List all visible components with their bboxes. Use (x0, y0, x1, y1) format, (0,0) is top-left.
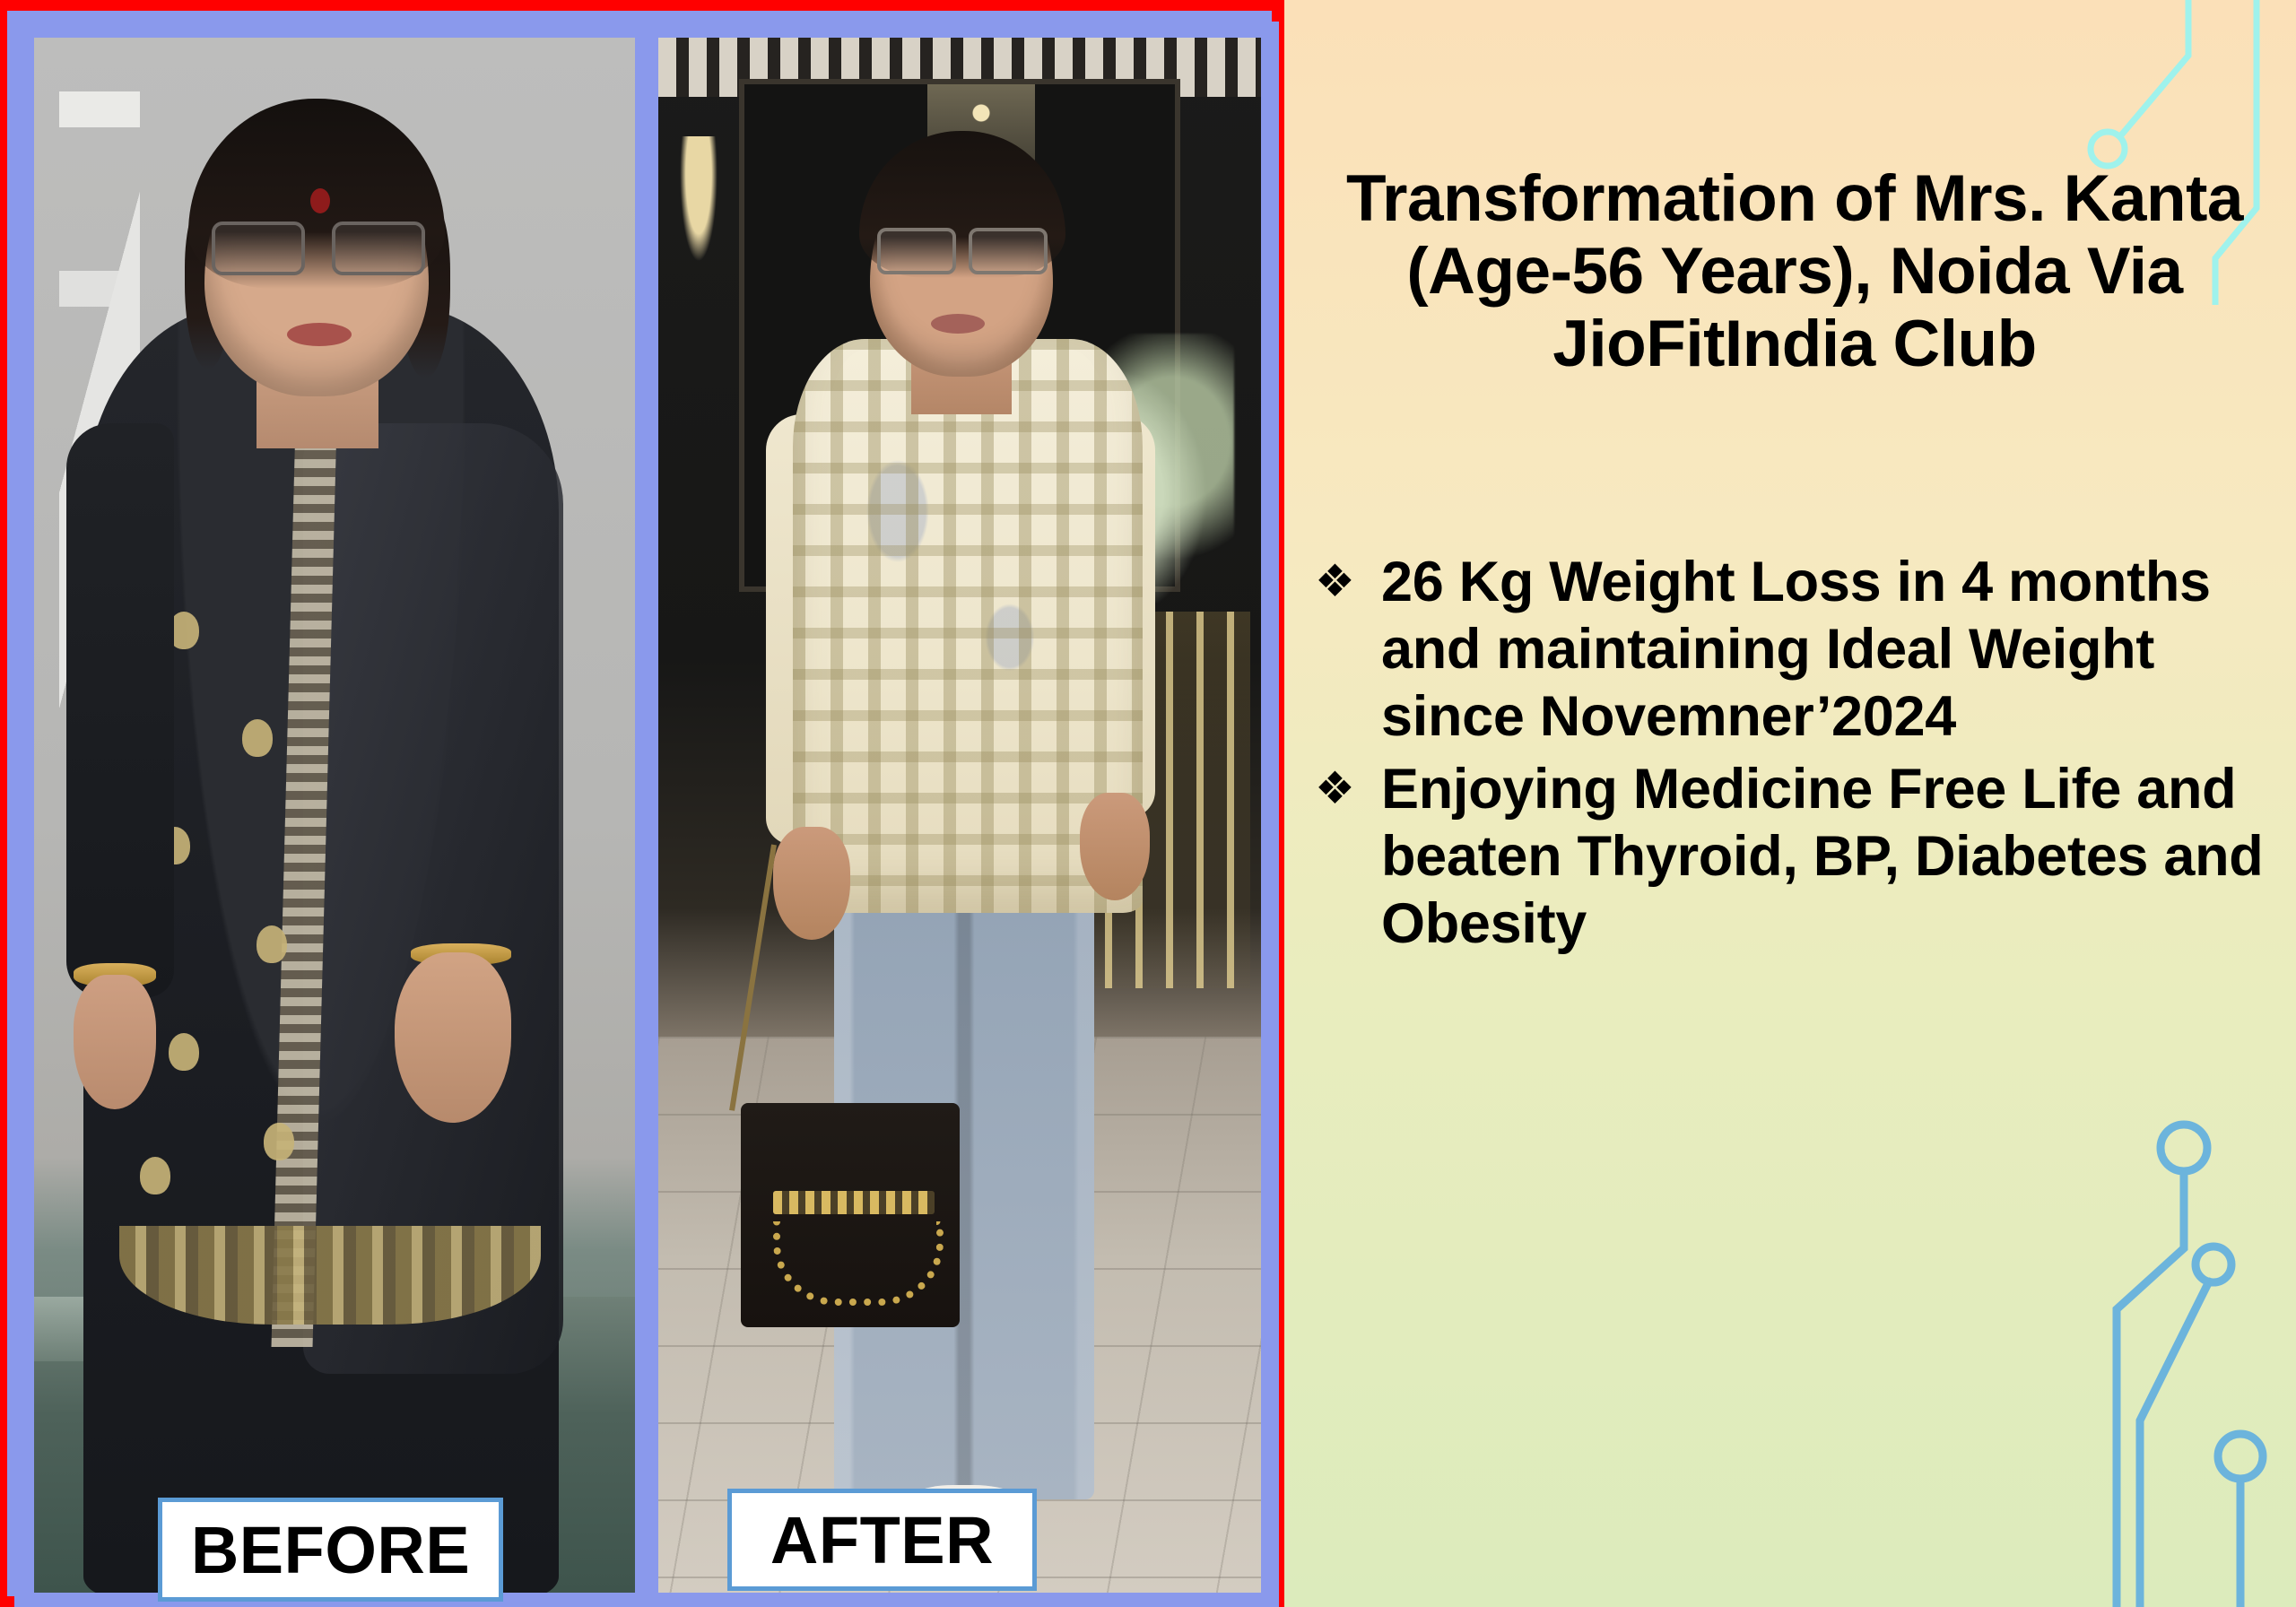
before-kurta-motif (257, 925, 287, 963)
handbag-logo (773, 1191, 935, 1214)
before-after-photo-panel: BEFORE AFTER (0, 0, 1284, 1607)
before-right-hand (395, 952, 511, 1123)
before-kurta-motif (264, 1123, 294, 1160)
before-kurta-hem-band (119, 1226, 541, 1325)
list-item: ❖ 26 Kg Weight Loss in 4 months and main… (1315, 549, 2283, 751)
glasses-icon (212, 222, 425, 272)
bindi-icon (310, 188, 330, 213)
glasses-icon (877, 228, 1048, 271)
before-left-arm (66, 423, 174, 997)
photo-mat: BEFORE AFTER (14, 22, 1279, 1607)
before-label: BEFORE (158, 1498, 503, 1602)
circuit-decoration-bottom-icon (2081, 1105, 2296, 1607)
before-lips (287, 323, 352, 346)
list-item-label: 26 Kg Weight Loss in 4 months and mainta… (1381, 549, 2283, 751)
list-item: ❖ Enjoying Medicine Free Life and beaten… (1315, 756, 2283, 958)
before-kurta-motif (242, 719, 273, 757)
before-photo (34, 38, 635, 1593)
after-photo (658, 38, 1261, 1593)
content-column: Transformation of Mrs. Kanta (Age-56 Yea… (1291, 0, 2296, 1607)
before-kurta-motif (140, 1157, 170, 1194)
before-kurta-motif (169, 1033, 199, 1071)
after-right-hand (1080, 793, 1150, 900)
list-item-label: Enjoying Medicine Free Life and beaten T… (1381, 756, 2283, 958)
handbag-chain (773, 1221, 944, 1306)
after-lips (931, 314, 985, 334)
before-left-hand (74, 975, 156, 1109)
diamond-bullet-icon: ❖ (1315, 549, 1381, 609)
after-label: AFTER (727, 1489, 1037, 1591)
page-title: Transformation of Mrs. Kanta (Age-56 Yea… (1315, 162, 2274, 380)
benefit-list: ❖ 26 Kg Weight Loss in 4 months and main… (1315, 549, 2283, 963)
after-left-hand (773, 827, 850, 940)
wall-lamp-icon (680, 136, 717, 262)
slide-canvas: BEFORE AFTER Transformation of Mrs. Kant… (0, 0, 2296, 1607)
diamond-bullet-icon: ❖ (1315, 756, 1381, 816)
